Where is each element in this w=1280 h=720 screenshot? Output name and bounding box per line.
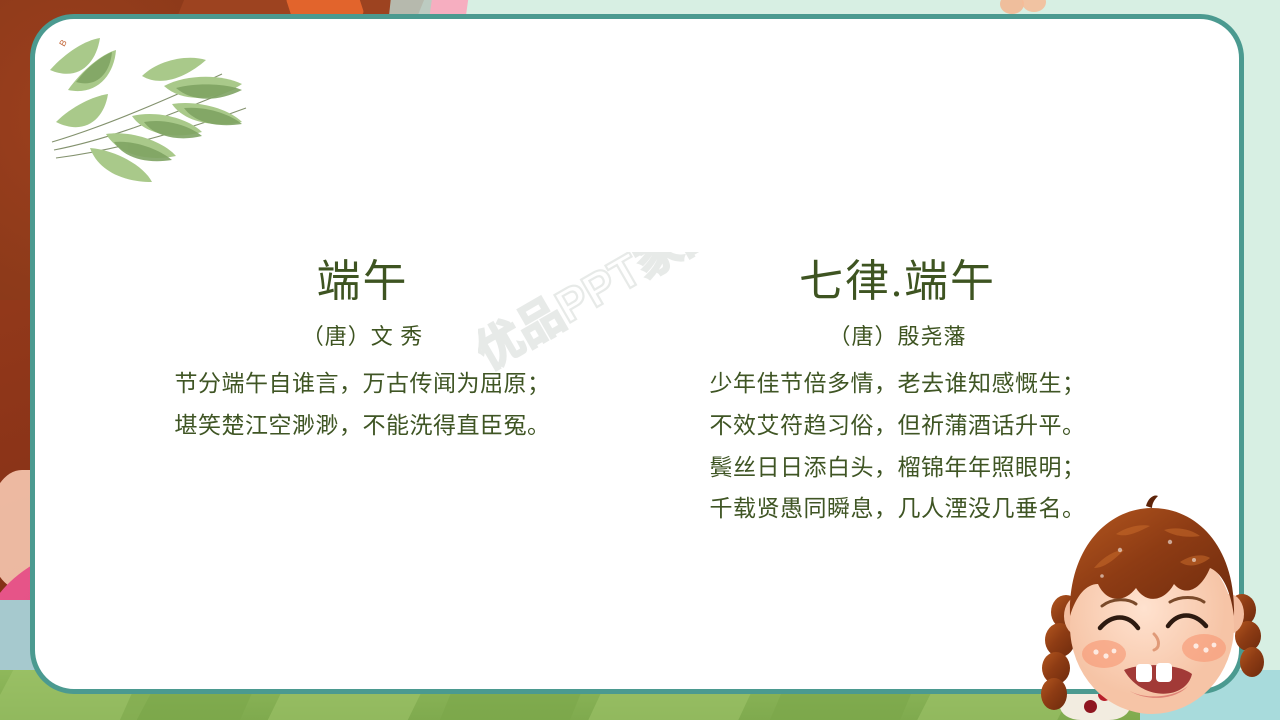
poem-container: 端午 （唐）文 秀 节分端午自谁言，万古传闻为屈原； 堪笑楚江空渺渺，不能洗得直… [120, 258, 1140, 530]
poem-left-author: （唐）文 秀 [120, 324, 605, 350]
slide-canvas: B 优品PPT家园 [0, 0, 1280, 720]
girl-character-icon [1024, 476, 1274, 720]
poem-right-title: 七律.端午 [655, 258, 1140, 306]
poem-left-title: 端午 [120, 258, 605, 306]
poem-right-author: （唐）殷尧藩 [655, 324, 1140, 350]
poem-right-line: 少年佳节倍多情，老去谁知感慨生； [655, 363, 1140, 405]
poem-left-line: 堪笑楚江空渺渺，不能洗得直臣冤。 [120, 405, 605, 447]
poem-left: 端午 （唐）文 秀 节分端午自谁言，万古传闻为屈原； 堪笑楚江空渺渺，不能洗得直… [120, 258, 645, 530]
poem-right-line: 不效艾符趋习俗，但祈蒲酒话升平。 [655, 405, 1140, 447]
poem-left-line: 节分端午自谁言，万古传闻为屈原； [120, 363, 605, 405]
